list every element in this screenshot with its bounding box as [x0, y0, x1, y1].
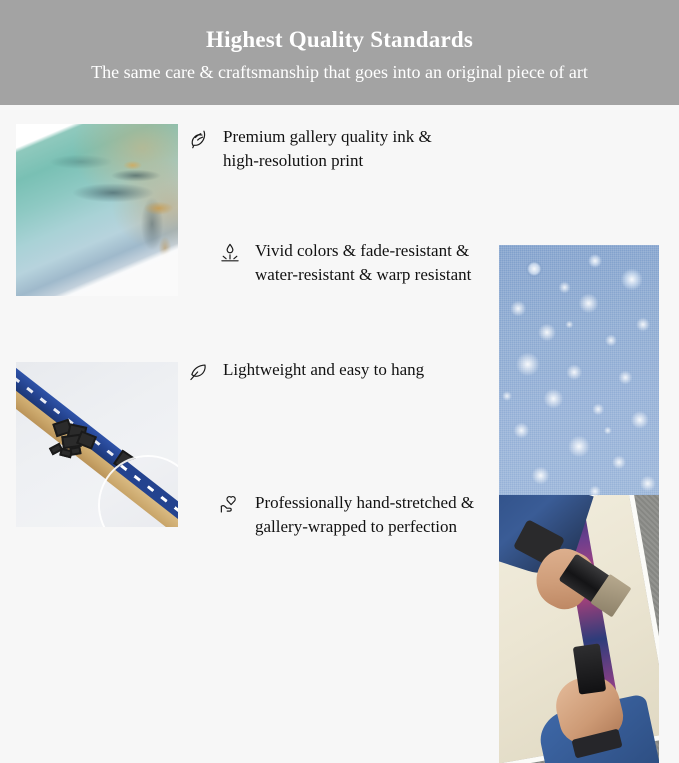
feather-icon — [187, 128, 209, 150]
feature-label: Vivid colors & fade-resistant & water-re… — [255, 239, 471, 287]
feature-row-lightweight: Lightweight and easy to hang — [187, 358, 487, 383]
feature-row-vivid-colors: Vivid colors & fade-resistant & water-re… — [219, 239, 509, 287]
hand-stretching-canvas-photo — [499, 495, 659, 763]
feature-label: Professionally hand-stretched & gallery-… — [255, 491, 474, 539]
water-droplets-fabric-photo — [499, 245, 659, 510]
hand-holding-heart-icon — [219, 494, 241, 516]
water-drop-splash-icon — [219, 242, 241, 264]
header-banner: Highest Quality Standards The same care … — [0, 0, 679, 105]
page-subtitle: The same care & craftsmanship that goes … — [91, 62, 588, 84]
feature-row-hand-stretched: Professionally hand-stretched & gallery-… — [219, 491, 519, 539]
feature-label: Premium gallery quality ink & high-resol… — [223, 125, 432, 173]
feature-label: Lightweight and easy to hang — [223, 358, 424, 382]
feature-row-premium-ink: Premium gallery quality ink & high-resol… — [187, 125, 477, 173]
page-title: Highest Quality Standards — [206, 26, 473, 54]
leaf-icon — [187, 361, 209, 383]
canvas-frame-hanging-hardware-photo — [16, 362, 178, 527]
features-stage: Premium gallery quality ink & high-resol… — [0, 105, 679, 679]
teal-alcohol-ink-canvas-photo — [16, 124, 178, 296]
